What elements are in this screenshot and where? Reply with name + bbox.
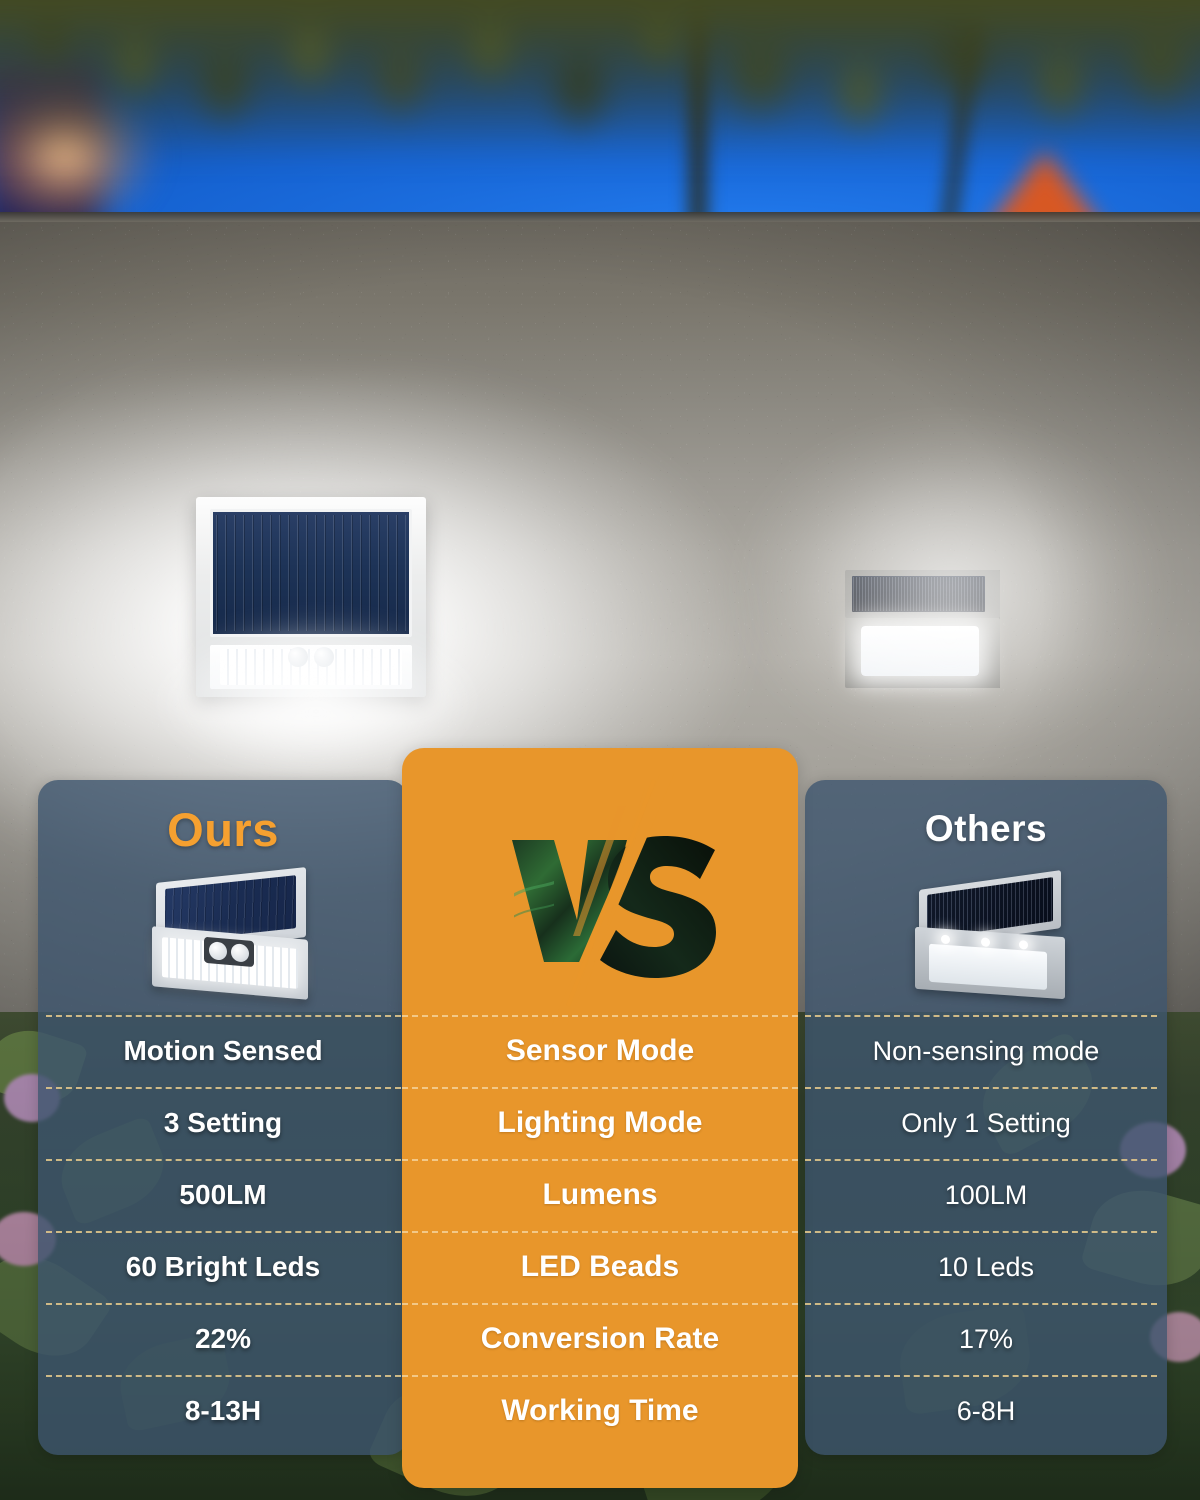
product-comparison-infographic: Ours Others [0,0,1200,1500]
table-row: Motion Sensed Sensor Mode Non-sensing mo… [0,1015,1200,1087]
others-title: Others [805,808,1167,850]
night-scene-banner [0,0,1200,222]
vs-logo [402,770,798,1025]
feature-label: Lighting Mode [402,1087,798,1159]
feature-rows: Motion Sensed Sensor Mode Non-sensing mo… [0,1015,1200,1447]
ours-value: 8-13H [38,1375,408,1447]
motion-sensor-icon [231,943,249,963]
led-spark-icon [981,937,990,947]
ours-value: 60 Bright Leds [38,1231,408,1303]
ours-value: 3 Setting [38,1087,408,1159]
table-row: 3 Setting Lighting Mode Only 1 Setting [0,1087,1200,1159]
ours-value: Motion Sensed [38,1015,408,1087]
table-row: 500LM Lumens 100LM [0,1159,1200,1231]
motion-sensor-housing [204,937,254,967]
feature-label: Working Time [402,1375,798,1447]
led-housing [152,926,308,1000]
comparison-table: Ours Others [0,740,1200,1470]
led-spark-icon [1019,940,1028,950]
ours-value: 22% [38,1303,408,1375]
ours-card-header: Ours [38,780,408,1015]
others-product-thumbnail [905,880,1077,998]
led-lens [929,944,1047,990]
led-housing [915,927,1065,999]
others-value: 17% [805,1303,1167,1375]
motion-sensor-icon [209,941,227,961]
others-value: Only 1 Setting [805,1087,1167,1159]
led-spark-icon [941,935,950,945]
others-value: 6-8H [805,1375,1167,1447]
others-value: 10 Leds [805,1231,1167,1303]
banner-bottom-edge [0,212,1200,222]
others-value: 100LM [805,1159,1167,1231]
feature-label: Sensor Mode [402,1015,798,1087]
ours-product-thumbnail [146,875,312,995]
others-card-header: Others [805,780,1167,1015]
tree-foliage [0,0,1200,210]
feature-label: Lumens [402,1159,798,1231]
table-row: 22% Conversion Rate 17% [0,1303,1200,1375]
ours-value: 500LM [38,1159,408,1231]
table-row: 8-13H Working Time 6-8H [0,1375,1200,1447]
table-row: 60 Bright Leds LED Beads 10 Leds [0,1231,1200,1303]
feature-label: Conversion Rate [402,1303,798,1375]
feature-label: LED Beads [402,1231,798,1303]
ours-title: Ours [38,802,408,857]
others-value: Non-sensing mode [805,1015,1167,1087]
